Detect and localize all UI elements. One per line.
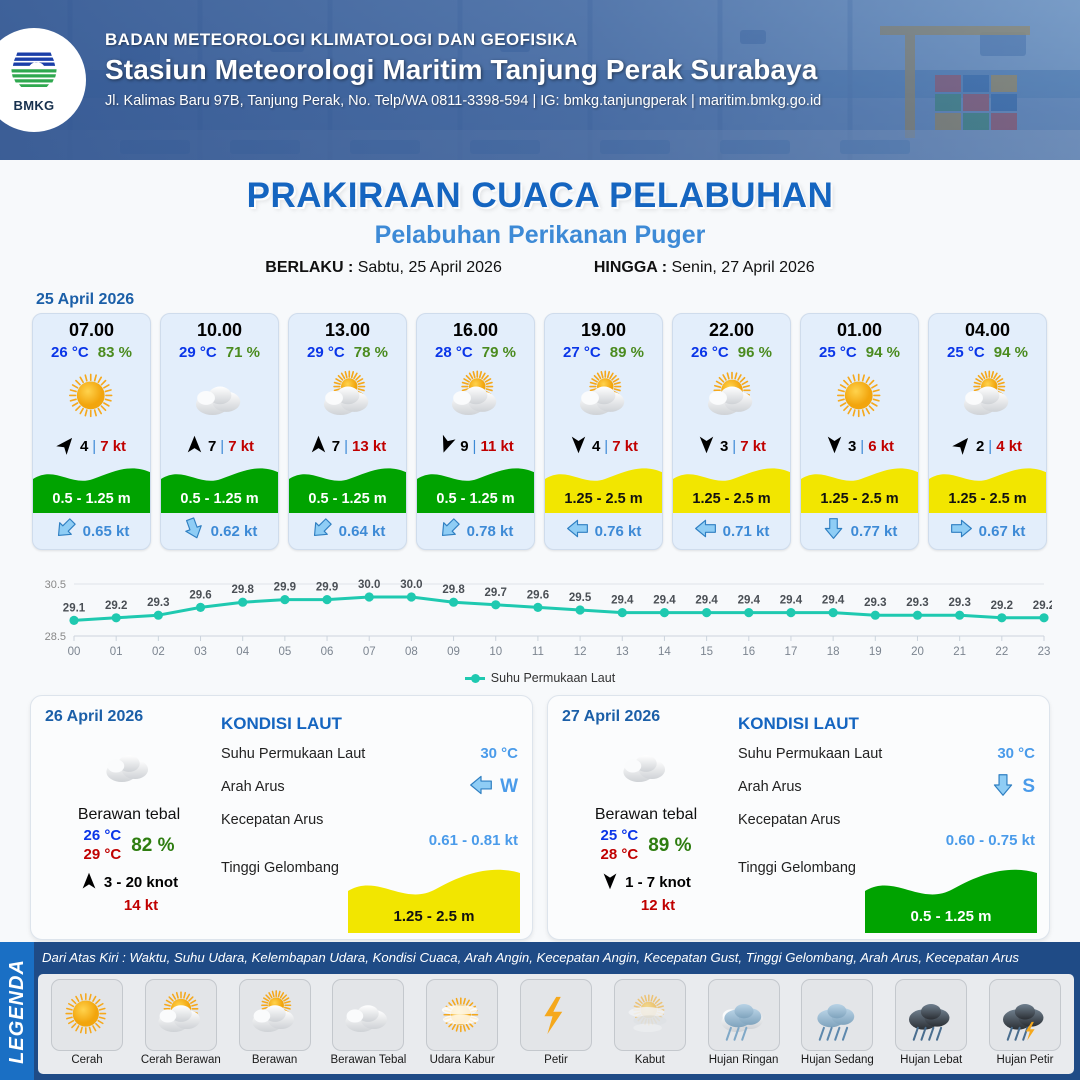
card-current-speed: 0.71 kt xyxy=(723,523,770,540)
card-wind-row: 4 | 7 kt xyxy=(545,433,662,459)
legend-partly-icon xyxy=(239,979,311,1051)
sst-row: Suhu Permukaan Laut 30 °C xyxy=(221,745,518,762)
svg-text:29.9: 29.9 xyxy=(274,582,296,594)
bmkg-emblem-icon xyxy=(6,47,62,97)
title-block: PRAKIRAAN CUACA PELABUHAN Pelabuhan Peri… xyxy=(0,160,1080,277)
legend-item-label: Petir xyxy=(544,1054,568,1066)
card-humidity: 94 % xyxy=(994,344,1028,361)
card-separator: | xyxy=(988,438,992,455)
legend-item: Berawan Tebal xyxy=(325,979,411,1066)
daily-wind-direction-arrow-icon xyxy=(601,872,619,894)
svg-text:29.6: 29.6 xyxy=(527,589,549,601)
current-speed-label: Kecepatan Arus xyxy=(738,812,1035,828)
daily-forecast-panel[interactable]: 27 April 2026 Berawan tebal 25 °C 28 °C … xyxy=(547,695,1050,940)
legend-item-row: Cerah Cerah Berawan Berawan xyxy=(38,974,1074,1074)
wind-direction-arrow-icon xyxy=(697,435,716,458)
svg-text:30.0: 30.0 xyxy=(358,579,380,591)
card-wind-speed: 7 xyxy=(208,438,216,455)
sst-value: 30 °C xyxy=(997,745,1035,762)
daily-left: 27 April 2026 Berawan tebal 25 °C 28 °C … xyxy=(562,708,730,929)
wind-direction-arrow-icon xyxy=(185,435,204,458)
card-humidity: 71 % xyxy=(226,344,260,361)
card-temperature: 25 °C xyxy=(947,344,985,361)
card-time: 13.00 xyxy=(289,314,406,341)
svg-text:29.2: 29.2 xyxy=(105,600,127,612)
legend-item-label: Kabut xyxy=(635,1054,665,1066)
card-current-speed: 0.78 kt xyxy=(467,523,514,540)
card-separator: | xyxy=(344,438,348,455)
daily-weather-cloudy-icon xyxy=(45,734,213,796)
daily-wind-direction-arrow-icon xyxy=(80,872,98,894)
card-gust: 7 kt xyxy=(100,438,126,455)
card-gust: 4 kt xyxy=(996,438,1022,455)
current-direction-arrow-icon xyxy=(991,773,1015,801)
legend-suncloud-icon xyxy=(145,979,217,1051)
legend-item: Petir xyxy=(513,979,599,1066)
legend-item-label: Udara Kabur xyxy=(430,1054,495,1066)
svg-text:29.8: 29.8 xyxy=(232,584,255,596)
hourly-date-label: 25 April 2026 xyxy=(36,291,1080,309)
svg-text:15: 15 xyxy=(700,646,713,658)
card-humidity: 79 % xyxy=(482,344,516,361)
legend-bar: LEGENDA Dari Atas Kiri : Waktu, Suhu Uda… xyxy=(0,942,1080,1080)
current-direction-arrow-icon xyxy=(438,517,461,545)
svg-text:23: 23 xyxy=(1038,646,1051,658)
svg-text:01: 01 xyxy=(110,646,123,658)
daily-sea-conditions: KONDISI LAUT Suhu Permukaan Laut 30 °C A… xyxy=(730,708,1035,929)
legend-sunny-icon xyxy=(51,979,123,1051)
berlaku-value: Sabtu, 25 April 2026 xyxy=(358,259,502,276)
page-header: BMKG BADAN METEOROLOGI KLIMATOLOGI DAN G… xyxy=(0,0,1080,160)
card-wind-row: 4 | 7 kt xyxy=(33,433,150,459)
page-subtitle: Pelabuhan Perikanan Puger xyxy=(0,221,1080,250)
svg-text:13: 13 xyxy=(616,646,629,658)
current-direction-arrow-icon xyxy=(310,517,333,545)
card-time: 16.00 xyxy=(417,314,534,341)
svg-text:29.3: 29.3 xyxy=(948,597,970,609)
hingga-group: HINGGA : Senin, 27 April 2026 xyxy=(594,259,815,277)
card-temp-hum: 25 °C 94 % xyxy=(929,344,1046,361)
card-current-speed: 0.62 kt xyxy=(211,523,258,540)
legend-item: Hujan Lebat xyxy=(888,979,974,1066)
legend-item-label: Cerah xyxy=(71,1054,102,1066)
daily-sea-conditions: KONDISI LAUT Suhu Permukaan Laut 30 °C A… xyxy=(213,708,518,929)
sea-condition-title: KONDISI LAUT xyxy=(221,714,518,734)
card-wind-speed: 9 xyxy=(460,438,468,455)
svg-text:11: 11 xyxy=(532,646,544,658)
sst-chart: 30.528.500010203040506070809101112131415… xyxy=(28,558,1052,670)
current-direction-arrow-icon xyxy=(54,517,77,545)
card-humidity: 94 % xyxy=(866,344,900,361)
card-current-speed: 0.77 kt xyxy=(851,523,898,540)
card-wave-height: 0.5 - 1.25 m xyxy=(417,491,534,507)
hingga-value: Senin, 27 April 2026 xyxy=(671,259,814,276)
svg-text:10: 10 xyxy=(489,646,502,658)
daily-temp-group: 25 °C 28 °C 89 % xyxy=(562,827,730,865)
svg-text:29.3: 29.3 xyxy=(906,597,928,609)
card-temperature: 27 °C xyxy=(563,344,601,361)
card-temp-hum: 29 °C 71 % xyxy=(161,344,278,361)
daily-gust: 14 kt xyxy=(69,897,213,914)
sea-condition-title: KONDISI LAUT xyxy=(738,714,1035,734)
card-current-speed: 0.67 kt xyxy=(979,523,1026,540)
daily-date: 27 April 2026 xyxy=(562,708,730,726)
card-gust: 6 kt xyxy=(868,438,894,455)
svg-text:18: 18 xyxy=(827,646,840,658)
card-wave-band: 1.25 - 2.5 m xyxy=(545,461,662,513)
card-current-speed: 0.64 kt xyxy=(339,523,386,540)
legend-fog-icon xyxy=(614,979,686,1051)
svg-text:07: 07 xyxy=(363,646,376,658)
wind-direction-arrow-icon xyxy=(57,435,76,458)
card-current-row: 0.78 kt xyxy=(417,513,534,549)
card-weather-cloudy-icon xyxy=(161,361,278,433)
card-temp-hum: 26 °C 83 % xyxy=(33,344,150,361)
card-current-row: 0.65 kt xyxy=(33,513,150,549)
berlaku-group: BERLAKU : Sabtu, 25 April 2026 xyxy=(265,259,502,277)
card-separator: | xyxy=(732,438,736,455)
card-separator: | xyxy=(92,438,96,455)
berlaku-label: BERLAKU : xyxy=(265,259,353,276)
card-time: 10.00 xyxy=(161,314,278,341)
current-direction-label: Arah Arus xyxy=(221,779,285,795)
daily-gust: 12 kt xyxy=(586,897,730,914)
wind-direction-arrow-icon xyxy=(437,435,456,458)
legend-item-label: Hujan Ringan xyxy=(709,1054,779,1066)
card-wind-row: 7 | 7 kt xyxy=(161,433,278,459)
svg-text:22: 22 xyxy=(995,646,1008,658)
card-temp-hum: 28 °C 79 % xyxy=(417,344,534,361)
legend-item: Udara Kabur xyxy=(419,979,505,1066)
bmkg-logo-text: BMKG xyxy=(14,98,55,113)
card-current-row: 0.64 kt xyxy=(289,513,406,549)
svg-text:29.2: 29.2 xyxy=(1033,600,1052,612)
daily-temp-range: 25 °C 28 °C xyxy=(601,827,639,865)
card-weather-suncloud-icon xyxy=(673,361,790,433)
legend-lightning-icon xyxy=(520,979,592,1051)
card-wave-band: 1.25 - 2.5 m xyxy=(929,461,1046,513)
legend-caption: Dari Atas Kiri : Waktu, Suhu Udara, Kele… xyxy=(42,950,1072,965)
card-wave-height: 0.5 - 1.25 m xyxy=(33,491,150,507)
card-wind-speed: 3 xyxy=(720,438,728,455)
card-weather-sunny-icon xyxy=(801,361,918,433)
legend-side-title-text: LEGENDA xyxy=(6,959,29,1064)
svg-text:00: 00 xyxy=(68,646,81,658)
card-gust: 13 kt xyxy=(352,438,386,455)
svg-text:28.5: 28.5 xyxy=(45,631,66,643)
current-direction-arrow-icon xyxy=(182,517,205,545)
svg-text:29.8: 29.8 xyxy=(442,584,465,596)
card-wave-height: 1.25 - 2.5 m xyxy=(545,491,662,507)
card-wind-row: 3 | 7 kt xyxy=(673,433,790,459)
card-current-row: 0.77 kt xyxy=(801,513,918,549)
card-current-speed: 0.65 kt xyxy=(83,523,130,540)
card-gust: 7 kt xyxy=(228,438,254,455)
svg-text:02: 02 xyxy=(152,646,165,658)
card-temp-hum: 25 °C 94 % xyxy=(801,344,918,361)
svg-text:30.5: 30.5 xyxy=(45,579,66,591)
legend-item: Hujan Sedang xyxy=(794,979,880,1066)
card-wave-height: 1.25 - 2.5 m xyxy=(801,491,918,507)
hourly-card[interactable]: 04.00 25 °C 94 % 2 | 4 kt 1.25 - 2.5 m xyxy=(928,313,1047,550)
card-wave-band: 1.25 - 2.5 m xyxy=(801,461,918,513)
legend-item: Hujan Petir xyxy=(982,979,1068,1066)
wind-direction-arrow-icon xyxy=(309,435,328,458)
card-time: 22.00 xyxy=(673,314,790,341)
sst-row: Suhu Permukaan Laut 30 °C xyxy=(738,745,1035,762)
daily-temp-min: 25 °C xyxy=(601,827,639,846)
card-humidity: 96 % xyxy=(738,344,772,361)
legend-item-label: Hujan Petir xyxy=(997,1054,1054,1066)
svg-text:03: 03 xyxy=(194,646,207,658)
current-speed-row: Kecepatan Arus 0.60 - 0.75 kt xyxy=(738,812,1035,849)
daily-left: 26 April 2026 Berawan tebal 26 °C 29 °C … xyxy=(45,708,213,929)
current-direction-letter: S xyxy=(1022,776,1035,798)
legend-moderate-rain-icon xyxy=(801,979,873,1051)
card-weather-partly-icon xyxy=(929,361,1046,433)
current-direction-label: Arah Arus xyxy=(738,779,802,795)
current-speed-value: 0.61 - 0.81 kt xyxy=(221,832,518,849)
svg-text:29.3: 29.3 xyxy=(864,597,886,609)
current-direction-value: W xyxy=(469,773,518,801)
legend-item-label: Hujan Lebat xyxy=(900,1054,962,1066)
card-current-row: 0.76 kt xyxy=(545,513,662,549)
card-wind-speed: 4 xyxy=(80,438,88,455)
legend-item: Kabut xyxy=(607,979,693,1066)
card-wave-height: 0.5 - 1.25 m xyxy=(289,491,406,507)
daily-weather-cloudy-icon xyxy=(562,734,730,796)
card-weather-partly-icon xyxy=(417,361,534,433)
svg-text:29.5: 29.5 xyxy=(569,592,592,604)
current-direction-arrow-icon xyxy=(822,517,845,545)
svg-text:14: 14 xyxy=(658,646,671,658)
hourly-card[interactable]: 07.00 26 °C 83 % 4 | 7 kt 0.5 - 1.25 m xyxy=(32,313,151,550)
current-speed-value: 0.60 - 0.75 kt xyxy=(738,832,1035,849)
card-wind-row: 3 | 6 kt xyxy=(801,433,918,459)
svg-text:17: 17 xyxy=(785,646,798,658)
card-separator: | xyxy=(220,438,224,455)
svg-text:29.4: 29.4 xyxy=(695,595,718,607)
wind-direction-arrow-icon xyxy=(953,435,972,458)
card-gust: 11 kt xyxy=(480,438,513,455)
current-direction-arrow-icon xyxy=(469,773,493,801)
hourly-card[interactable]: 16.00 28 °C 79 % 9 | 11 kt 0.5 - 1.25 m xyxy=(416,313,535,550)
daily-forecast-panel[interactable]: 26 April 2026 Berawan tebal 26 °C 29 °C … xyxy=(30,695,533,940)
header-text-block: BADAN METEOROLOGI KLIMATOLOGI DAN GEOFIS… xyxy=(105,30,1064,109)
svg-text:29.9: 29.9 xyxy=(316,582,338,594)
legend-item-label: Berawan xyxy=(252,1054,297,1066)
wind-direction-arrow-icon xyxy=(569,435,588,458)
legend-item: Berawan xyxy=(232,979,318,1066)
sst-label: Suhu Permukaan Laut xyxy=(738,746,882,762)
sst-chart-canvas: 30.528.500010203040506070809101112131415… xyxy=(28,558,1052,670)
legend-item: Hujan Ringan xyxy=(701,979,787,1066)
daily-wind-range: 1 - 7 knot xyxy=(625,874,691,891)
card-temperature: 26 °C xyxy=(51,344,89,361)
card-wave-height: 1.25 - 2.5 m xyxy=(929,491,1046,507)
card-time: 19.00 xyxy=(545,314,662,341)
daily-date: 26 April 2026 xyxy=(45,708,213,726)
card-humidity: 89 % xyxy=(610,344,644,361)
daily-temp-max: 28 °C xyxy=(601,846,639,865)
card-humidity: 83 % xyxy=(98,344,132,361)
daily-panel-row: 26 April 2026 Berawan tebal 26 °C 29 °C … xyxy=(0,685,1080,940)
svg-text:04: 04 xyxy=(236,646,249,658)
card-wave-band: 0.5 - 1.25 m xyxy=(161,461,278,513)
card-wind-row: 9 | 11 kt xyxy=(417,433,534,459)
validity-row: BERLAKU : Sabtu, 25 April 2026 HINGGA : … xyxy=(0,259,1080,277)
card-wind-row: 7 | 13 kt xyxy=(289,433,406,459)
current-direction-row: Arah Arus W xyxy=(221,773,518,801)
chart-legend: Suhu Permukaan Laut xyxy=(0,671,1080,685)
card-wave-band: 0.5 - 1.25 m xyxy=(33,461,150,513)
svg-text:21: 21 xyxy=(953,646,966,658)
card-time: 04.00 xyxy=(929,314,1046,341)
page-title: PRAKIRAAN CUACA PELABUHAN xyxy=(0,176,1080,216)
daily-wave-height: 1.25 - 2.5 m xyxy=(348,908,520,925)
card-wind-speed: 3 xyxy=(848,438,856,455)
card-time: 07.00 xyxy=(33,314,150,341)
current-direction-arrow-icon xyxy=(950,517,973,545)
svg-text:20: 20 xyxy=(911,646,924,658)
station-name: Stasiun Meteorologi Maritim Tanjung Pera… xyxy=(105,54,1064,86)
card-weather-sunny-icon xyxy=(33,361,150,433)
card-wind-speed: 7 xyxy=(332,438,340,455)
legend-haze-icon xyxy=(426,979,498,1051)
card-weather-partly-icon xyxy=(545,361,662,433)
current-direction-arrow-icon xyxy=(566,517,589,545)
daily-humidity: 89 % xyxy=(648,835,691,857)
daily-temp-group: 26 °C 29 °C 82 % xyxy=(45,827,213,865)
svg-text:05: 05 xyxy=(278,646,291,658)
card-wave-band: 0.5 - 1.25 m xyxy=(289,461,406,513)
card-wave-height: 0.5 - 1.25 m xyxy=(161,491,278,507)
daily-condition: Berawan tebal xyxy=(45,806,213,824)
card-temperature: 28 °C xyxy=(435,344,473,361)
hourly-card[interactable]: 19.00 27 °C 89 % 4 | 7 kt 1.25 - 2.5 m xyxy=(544,313,663,550)
legend-side-title: LEGENDA xyxy=(0,942,34,1080)
sst-value: 30 °C xyxy=(480,745,518,762)
svg-text:29.4: 29.4 xyxy=(738,595,761,607)
daily-wave-band: 1.25 - 2.5 m xyxy=(348,863,520,933)
card-wind-speed: 4 xyxy=(592,438,600,455)
current-speed-label: Kecepatan Arus xyxy=(221,812,518,828)
daily-wave-band: 0.5 - 1.25 m xyxy=(865,863,1037,933)
svg-text:29.4: 29.4 xyxy=(780,595,803,607)
legend-cloudy-icon xyxy=(332,979,404,1051)
card-temperature: 25 °C xyxy=(819,344,857,361)
card-weather-partly-icon xyxy=(289,361,406,433)
current-direction-letter: W xyxy=(500,776,518,798)
card-temp-hum: 26 °C 96 % xyxy=(673,344,790,361)
svg-text:16: 16 xyxy=(742,646,755,658)
hingga-label: HINGGA : xyxy=(594,259,667,276)
svg-text:19: 19 xyxy=(869,646,882,658)
daily-wind-row: 1 - 7 knot xyxy=(562,872,730,894)
legend-heavy-rain-icon xyxy=(895,979,967,1051)
chart-legend-label: Suhu Permukaan Laut xyxy=(491,671,615,685)
svg-text:29.4: 29.4 xyxy=(653,595,676,607)
svg-text:09: 09 xyxy=(447,646,460,658)
svg-text:29.3: 29.3 xyxy=(147,597,169,609)
daily-humidity: 82 % xyxy=(131,835,174,857)
svg-text:06: 06 xyxy=(321,646,334,658)
card-separator: | xyxy=(860,438,864,455)
daily-temp-range: 26 °C 29 °C xyxy=(84,827,122,865)
card-gust: 7 kt xyxy=(740,438,766,455)
svg-text:12: 12 xyxy=(574,646,587,658)
daily-wave-height: 0.5 - 1.25 m xyxy=(865,908,1037,925)
station-address: Jl. Kalimas Baru 97B, Tanjung Perak, No.… xyxy=(105,93,1064,109)
card-separator: | xyxy=(604,438,608,455)
card-wind-speed: 2 xyxy=(976,438,984,455)
current-direction-arrow-icon xyxy=(694,517,717,545)
legend-item: Cerah xyxy=(44,979,130,1066)
hourly-card[interactable]: 10.00 29 °C 71 % 7 | 7 kt 0.5 - 1.25 m xyxy=(160,313,279,550)
current-direction-row: Arah Arus S xyxy=(738,773,1035,801)
legend-thunderstorm-icon xyxy=(989,979,1061,1051)
chart-legend-marker-icon xyxy=(465,677,485,680)
card-humidity: 78 % xyxy=(354,344,388,361)
card-time: 01.00 xyxy=(801,314,918,341)
card-current-row: 0.67 kt xyxy=(929,513,1046,549)
daily-temp-min: 26 °C xyxy=(84,827,122,846)
card-wave-band: 1.25 - 2.5 m xyxy=(673,461,790,513)
daily-wind-range: 3 - 20 knot xyxy=(104,874,178,891)
current-direction-value: S xyxy=(991,773,1035,801)
daily-wind-row: 3 - 20 knot xyxy=(45,872,213,894)
hourly-card-row: 07.00 26 °C 83 % 4 | 7 kt 0.5 - 1.25 m xyxy=(0,313,1080,550)
svg-text:30.0: 30.0 xyxy=(400,579,422,591)
legend-item-label: Hujan Sedang xyxy=(801,1054,874,1066)
card-wave-band: 0.5 - 1.25 m xyxy=(417,461,534,513)
svg-text:29.7: 29.7 xyxy=(485,587,507,599)
card-temperature: 29 °C xyxy=(179,344,217,361)
legend-item: Cerah Berawan xyxy=(138,979,224,1066)
card-temperature: 29 °C xyxy=(307,344,345,361)
daily-condition: Berawan tebal xyxy=(562,806,730,824)
card-temp-hum: 29 °C 78 % xyxy=(289,344,406,361)
hourly-card[interactable]: 13.00 29 °C 78 % 7 | 13 kt 0.5 - 1.25 m xyxy=(288,313,407,550)
card-current-row: 0.62 kt xyxy=(161,513,278,549)
card-wind-row: 2 | 4 kt xyxy=(929,433,1046,459)
daily-temp-max: 29 °C xyxy=(84,846,122,865)
svg-text:29.2: 29.2 xyxy=(991,600,1013,612)
legend-item-label: Cerah Berawan xyxy=(141,1054,221,1066)
card-separator: | xyxy=(473,438,477,455)
sst-label: Suhu Permukaan Laut xyxy=(221,746,365,762)
legend-item-label: Berawan Tebal xyxy=(330,1054,406,1066)
card-temp-hum: 27 °C 89 % xyxy=(545,344,662,361)
card-current-row: 0.71 kt xyxy=(673,513,790,549)
svg-text:08: 08 xyxy=(405,646,418,658)
hourly-card[interactable]: 01.00 25 °C 94 % 3 | 6 kt 1.25 - 2.5 m xyxy=(800,313,919,550)
card-current-speed: 0.76 kt xyxy=(595,523,642,540)
card-temperature: 26 °C xyxy=(691,344,729,361)
card-wave-height: 1.25 - 2.5 m xyxy=(673,491,790,507)
svg-text:29.4: 29.4 xyxy=(822,595,845,607)
hourly-card[interactable]: 22.00 26 °C 96 % 3 | 7 kt 1.25 - 2.5 m xyxy=(672,313,791,550)
legend-light-rain-icon xyxy=(708,979,780,1051)
current-speed-row: Kecepatan Arus 0.61 - 0.81 kt xyxy=(221,812,518,849)
wind-direction-arrow-icon xyxy=(825,435,844,458)
svg-text:29.4: 29.4 xyxy=(611,595,634,607)
svg-text:29.1: 29.1 xyxy=(63,602,86,614)
card-gust: 7 kt xyxy=(612,438,638,455)
agency-name: BADAN METEOROLOGI KLIMATOLOGI DAN GEOFIS… xyxy=(105,30,1064,50)
svg-text:29.6: 29.6 xyxy=(189,589,211,601)
